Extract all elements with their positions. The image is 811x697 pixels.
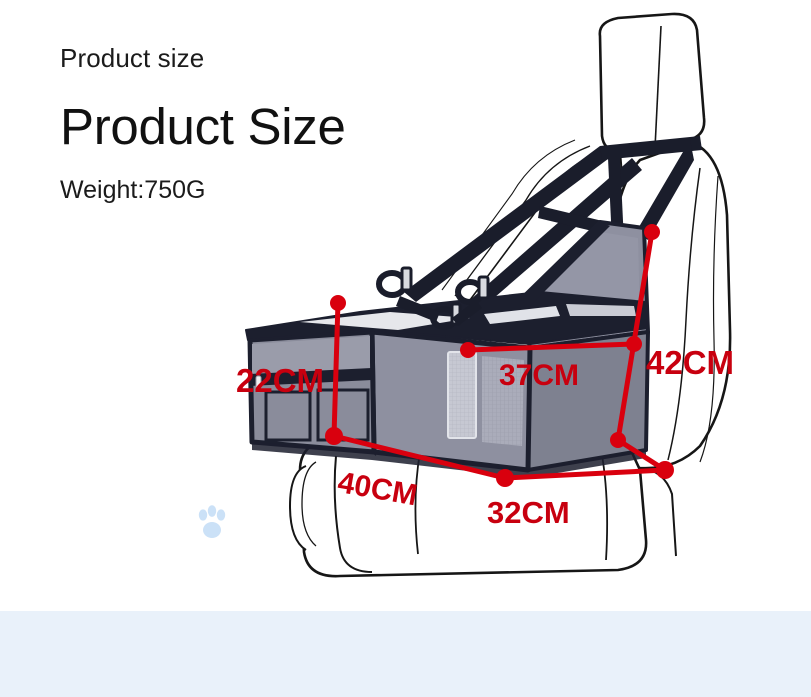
product-size-infographic: Product size Product Size Weight:750G xyxy=(0,0,811,697)
eyebrow-title: Product size xyxy=(60,44,346,73)
page-title: Product Size xyxy=(60,99,346,155)
weight-text: Weight:750G xyxy=(60,177,346,205)
heading-block: Product size Product Size Weight:750G xyxy=(60,44,346,204)
dimension-label-width-base: 32CM xyxy=(487,495,570,531)
dimension-label-height-front: 22CM xyxy=(236,362,324,400)
dimension-label-height-back: 42CM xyxy=(646,344,734,382)
paw-print-icon xyxy=(190,503,234,547)
footer-bar xyxy=(0,611,811,697)
dimension-label-length-top: 37CM xyxy=(499,359,579,393)
